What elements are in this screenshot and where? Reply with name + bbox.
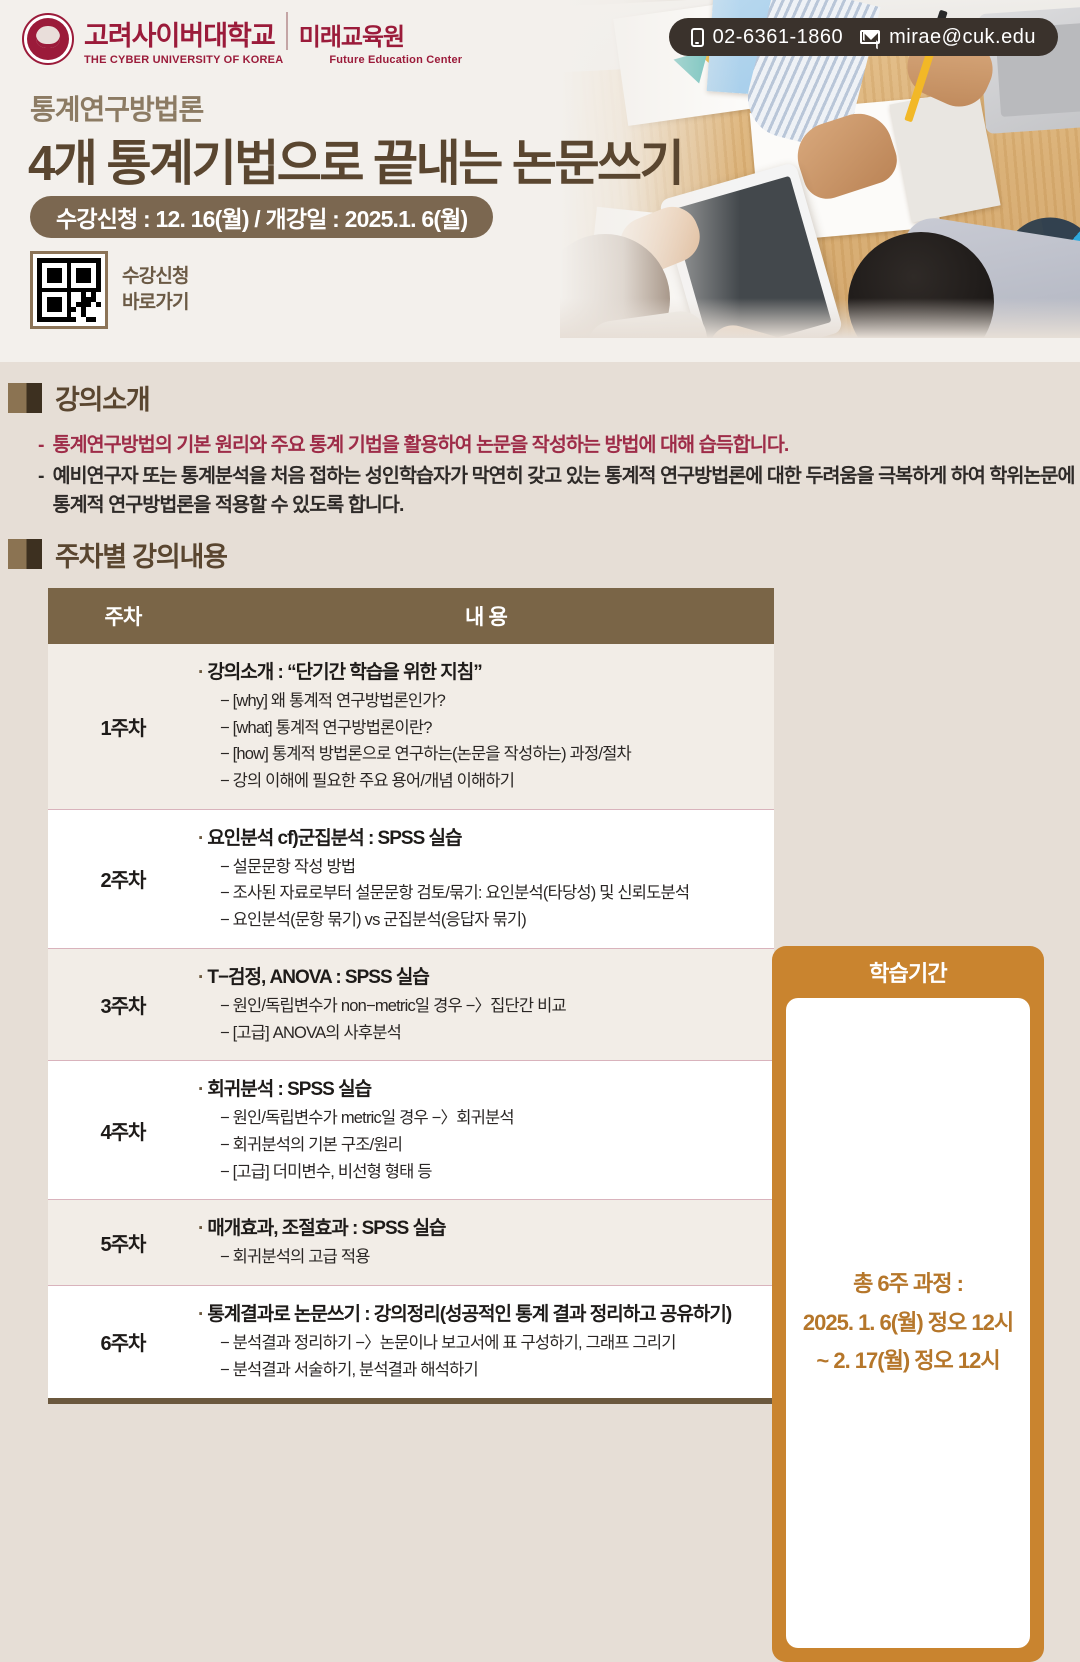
bullet-dash: - bbox=[38, 462, 44, 519]
intro-section-header: 강의소개 bbox=[0, 378, 1080, 417]
enrollment-date-badge: 수강신청 : 12. 16(월) / 개강일 : 2025.1. 6(월) bbox=[30, 196, 493, 238]
page-content: 강의소개 - 통계연구방법의 기본 원리와 주요 통계 기법을 활용하여 논문을… bbox=[0, 378, 1080, 1404]
period-line-3: ~ 2. 17(월) 정오 12시 bbox=[803, 1342, 1013, 1381]
intro-bullet: - 통계연구방법의 기본 원리와 주요 통계 기법을 활용하여 논문을 작성하는… bbox=[38, 431, 1080, 459]
study-period-panel: 학습기간 총 6주 과정 : 2025. 1. 6(월) 정오 12시 ~ 2.… bbox=[772, 946, 1044, 1662]
week-topic: ·T−검정, ANOVA : SPSS 실습 bbox=[198, 962, 764, 989]
week-subitem: − [what] 통계적 연구방법론이란? bbox=[198, 715, 764, 742]
table-row: 4주차·회귀분석 : SPSS 실습− 원인/독립변수가 metric일 경우 … bbox=[48, 1061, 774, 1200]
study-period-card: 총 6주 과정 : 2025. 1. 6(월) 정오 12시 ~ 2. 17(월… bbox=[786, 998, 1030, 1648]
bullet-dot-icon: · bbox=[198, 967, 203, 988]
week-subitem: − [고급] 더미변수, 비선형 형태 등 bbox=[198, 1159, 764, 1186]
intro-bullet: - 예비연구자 또는 통계분석을 처음 접하는 성인학습자가 막연히 갖고 있는… bbox=[38, 462, 1080, 519]
week-subitem: − 요인분석(문항 묶기) vs 군집분석(응답자 묶기) bbox=[198, 907, 764, 934]
table-header-row: 주차 내 용 bbox=[48, 588, 774, 644]
mail-icon bbox=[860, 30, 880, 44]
week-content: ·강의소개 : “단기간 학습을 위한 지침”− [why] 왜 통계적 연구방… bbox=[198, 644, 774, 809]
week-subitem: − 회귀분석의 고급 적용 bbox=[198, 1244, 764, 1271]
week-subitem: − 회귀분석의 기본 구조/원리 bbox=[198, 1132, 764, 1159]
brand-name-ko: 고려사이버대학교 bbox=[84, 23, 275, 50]
week-content: ·매개효과, 조절효과 : SPSS 실습− 회귀분석의 고급 적용 bbox=[198, 1200, 774, 1286]
email-address[interactable]: mirae@cuk.edu bbox=[889, 26, 1036, 49]
table-row: 2주차·요인분석 cf)군집분석 : SPSS 실습− 설문문항 작성 방법− … bbox=[48, 809, 774, 948]
intro-bullet-text: 예비연구자 또는 통계분석을 처음 접하는 성인학습자가 막연히 갖고 있는 통… bbox=[53, 462, 1080, 519]
hero-banner: 고려사이버대학교 미래교육원 THE CYBER UNIVERSITY OF K… bbox=[0, 0, 1080, 362]
qr-cell bbox=[96, 317, 101, 322]
week-subitem: − 강의 이해에 필요한 주요 용어/개념 이해하기 bbox=[198, 768, 764, 795]
week-label: 6주차 bbox=[48, 1286, 198, 1401]
qr-code-icon[interactable] bbox=[30, 251, 108, 329]
qr-label: 수강신청 바로가기 bbox=[122, 264, 189, 315]
bullet-dot-icon: · bbox=[198, 1304, 203, 1325]
table-row: 6주차·통계결과로 논문쓰기 : 강의정리(성공적인 통계 결과 정리하고 공유… bbox=[48, 1286, 774, 1401]
schedule-section-header: 주차별 강의내용 bbox=[0, 535, 1080, 574]
week-label: 5주차 bbox=[48, 1200, 198, 1286]
phone-number[interactable]: 02-6361-1860 bbox=[713, 26, 844, 49]
bullet-dot-icon: · bbox=[198, 662, 203, 683]
intro-bullet-text: 통계연구방법의 기본 원리와 주요 통계 기법을 활용하여 논문을 작성하는 방… bbox=[53, 431, 789, 459]
intro-section-title: 강의소개 bbox=[55, 378, 150, 417]
study-period-header: 학습기간 bbox=[786, 946, 1030, 998]
week-subitem: − [how] 통계적 방법론으로 연구하는(논문을 작성하는) 과정/절차 bbox=[198, 741, 764, 768]
week-subitem: − 원인/독립변수가 non−metric일 경우 −〉집단간 비교 bbox=[198, 993, 764, 1020]
schedule-table: 주차 내 용 1주차·강의소개 : “단기간 학습을 위한 지침”− [why]… bbox=[48, 588, 774, 1404]
week-topic: ·회귀분석 : SPSS 실습 bbox=[198, 1074, 764, 1101]
col-header-content: 내 용 bbox=[198, 588, 774, 644]
section-marker-icon bbox=[8, 383, 42, 413]
brand-logo: 고려사이버대학교 미래교육원 THE CYBER UNIVERSITY OF K… bbox=[22, 12, 462, 66]
university-crest-icon bbox=[22, 13, 74, 65]
intro-list: - 통계연구방법의 기본 원리와 주요 통계 기법을 활용하여 논문을 작성하는… bbox=[0, 431, 1080, 519]
table-row: 5주차·매개효과, 조절효과 : SPSS 실습− 회귀분석의 고급 적용 bbox=[48, 1200, 774, 1286]
week-subitem: − 원인/독립변수가 metric일 경우 −〉회귀분석 bbox=[198, 1105, 764, 1132]
phone-icon bbox=[691, 28, 704, 47]
week-subitem: − 분석결과 정리하기 −〉논문이나 보고서에 표 구성하기, 그래프 그리기 bbox=[198, 1330, 764, 1357]
bullet-dot-icon: · bbox=[198, 828, 203, 849]
bullet-dot-icon: · bbox=[198, 1218, 203, 1239]
week-subitem: − [why] 왜 통계적 연구방법론인가? bbox=[198, 688, 764, 715]
week-content: ·요인분석 cf)군집분석 : SPSS 실습− 설문문항 작성 방법− 조사된… bbox=[198, 809, 774, 948]
table-row: 1주차·강의소개 : “단기간 학습을 위한 지침”− [why] 왜 통계적 … bbox=[48, 644, 774, 809]
table-row: 3주차·T−검정, ANOVA : SPSS 실습− 원인/독립변수가 non−… bbox=[48, 948, 774, 1060]
hero-title: 4개 통계기법으로 끝내는 논문쓰기 bbox=[28, 124, 682, 195]
week-label: 2주차 bbox=[48, 809, 198, 948]
qr-label-line1: 수강신청 bbox=[122, 264, 189, 290]
brand-name-en: THE CYBER UNIVERSITY OF KOREA bbox=[84, 54, 283, 66]
qr-label-line2: 바로가기 bbox=[122, 290, 189, 316]
col-header-week: 주차 bbox=[48, 588, 198, 644]
week-topic: ·강의소개 : “단기간 학습을 위한 지침” bbox=[198, 657, 764, 684]
hero-subtitle: 통계연구방법론 bbox=[30, 88, 203, 128]
logo-divider bbox=[286, 12, 288, 50]
brand-center-en: Future Education Center bbox=[329, 54, 462, 66]
schedule-section-title: 주차별 강의내용 bbox=[55, 535, 227, 574]
brand-center-ko: 미래교육원 bbox=[299, 26, 404, 50]
week-subitem: − [고급] ANOVA의 사후분석 bbox=[198, 1020, 764, 1047]
contact-bar: 02-6361-1860 mirae@cuk.edu bbox=[669, 18, 1058, 56]
week-label: 3주차 bbox=[48, 948, 198, 1060]
week-content: ·T−검정, ANOVA : SPSS 실습− 원인/독립변수가 non−met… bbox=[198, 948, 774, 1060]
section-marker-icon bbox=[8, 539, 42, 569]
week-topic: ·요인분석 cf)군집분석 : SPSS 실습 bbox=[198, 823, 764, 850]
qr-enroll-block[interactable]: 수강신청 바로가기 bbox=[30, 251, 189, 329]
week-subitem: − 분석결과 서술하기, 분석결과 해석하기 bbox=[198, 1357, 764, 1384]
bullet-dot-icon: · bbox=[198, 1079, 203, 1100]
bullet-dash: - bbox=[38, 431, 44, 459]
week-label: 4주차 bbox=[48, 1061, 198, 1200]
period-line-2: 2025. 1. 6(월) 정오 12시 bbox=[803, 1304, 1013, 1343]
week-content: ·통계결과로 논문쓰기 : 강의정리(성공적인 통계 결과 정리하고 공유하기)… bbox=[198, 1286, 774, 1401]
week-subitem: − 설문문항 작성 방법 bbox=[198, 854, 764, 881]
study-period-text: 총 6주 과정 : 2025. 1. 6(월) 정오 12시 ~ 2. 17(월… bbox=[803, 1265, 1013, 1381]
week-topic: ·매개효과, 조절효과 : SPSS 실습 bbox=[198, 1213, 764, 1240]
week-label: 1주차 bbox=[48, 644, 198, 809]
period-line-1: 총 6주 과정 : bbox=[803, 1265, 1013, 1304]
week-topic: ·통계결과로 논문쓰기 : 강의정리(성공적인 통계 결과 정리하고 공유하기) bbox=[198, 1299, 764, 1326]
week-content: ·회귀분석 : SPSS 실습− 원인/독립변수가 metric일 경우 −〉회… bbox=[198, 1061, 774, 1200]
week-subitem: − 조사된 자료로부터 설문문항 검토/묶기: 요인분석(타당성) 및 신뢰도분… bbox=[198, 880, 764, 907]
